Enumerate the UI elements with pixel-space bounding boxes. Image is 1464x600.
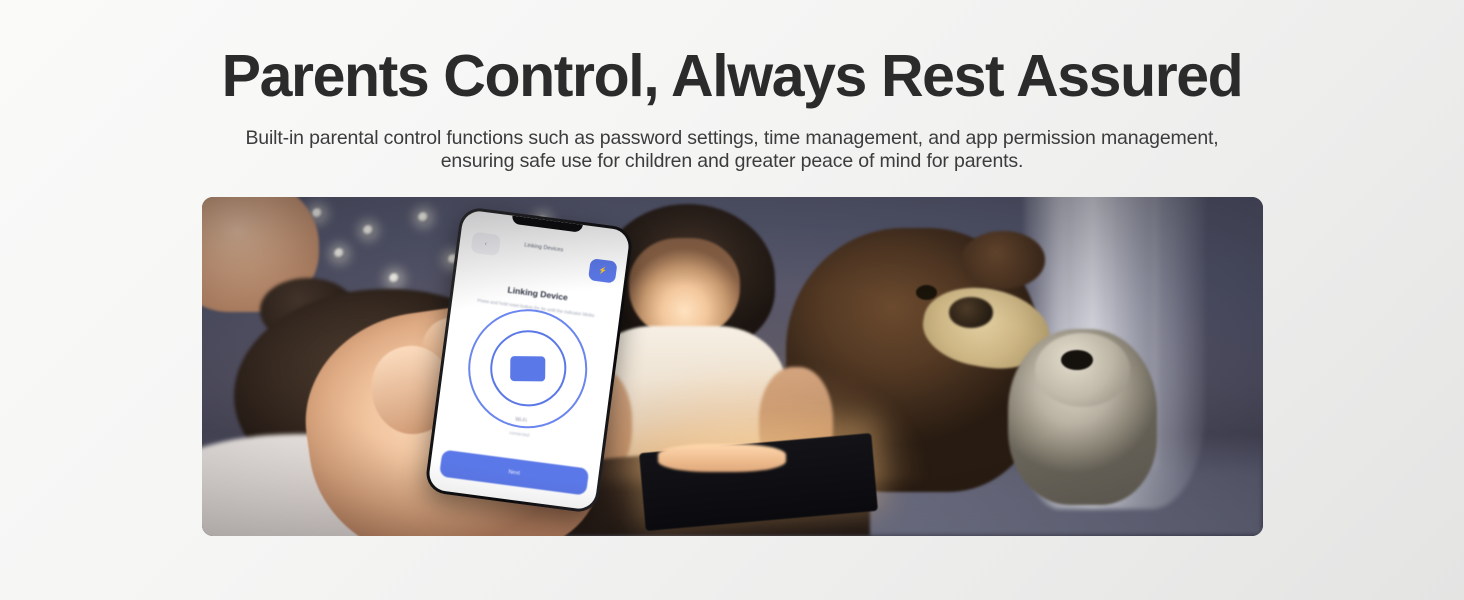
page-title: Parents Control, Always Rest Assured <box>0 47 1464 106</box>
promo-banner: Parents Control, Always Rest Assured Bui… <box>0 0 1464 600</box>
page-subtitle-line-1: Built-in parental control functions such… <box>245 127 1218 149</box>
child-face <box>629 238 740 340</box>
next-button[interactable]: Next <box>439 449 589 495</box>
device-icon <box>510 356 545 381</box>
linking-radar-inner-ring <box>485 325 570 410</box>
cream-teddy-head <box>1035 333 1130 408</box>
page-subtitle: Built-in parental control functions such… <box>222 127 1242 173</box>
smartphone: ‹ Linking Devices ⚡ Linking Device Press… <box>424 206 634 514</box>
brown-teddy-ear <box>961 231 1046 289</box>
phone-screen: ‹ Linking Devices ⚡ Linking Device Press… <box>427 209 630 511</box>
child-hands <box>658 444 785 471</box>
page-subtitle-line-2: ensuring safe use for children and great… <box>441 150 1024 172</box>
lightning-bolt-icon[interactable]: ⚡ <box>588 258 617 282</box>
hero-photo: ‹ Linking Devices ⚡ Linking Device Press… <box>202 197 1263 536</box>
cream-teddy-nose <box>1061 350 1093 370</box>
brown-teddy-nose <box>949 297 994 328</box>
